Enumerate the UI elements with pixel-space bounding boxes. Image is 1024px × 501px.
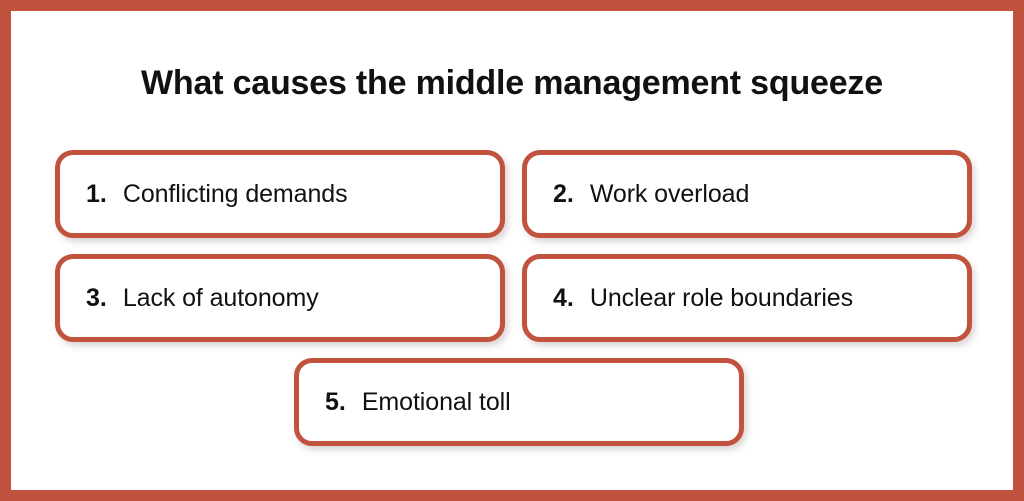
card-label-4: Unclear role boundaries [590, 284, 853, 313]
card-label-1: Conflicting demands [123, 180, 348, 209]
slide-canvas: What causes the middle management squeez… [11, 11, 1013, 490]
card-number-5: 5. [325, 388, 346, 417]
card-item-3[interactable]: 3. Lack of autonomy [55, 254, 505, 342]
cards-container: 1. Conflicting demands 2. Work overload … [55, 150, 983, 462]
card-label-3: Lack of autonomy [123, 284, 319, 313]
card-row-2: 3. Lack of autonomy 4. Unclear role boun… [55, 254, 983, 342]
card-number-3: 3. [86, 284, 107, 313]
card-number-4: 4. [553, 284, 574, 313]
card-label-5: Emotional toll [362, 388, 511, 417]
page-title: What causes the middle management squeez… [11, 63, 1013, 104]
card-item-5[interactable]: 5. Emotional toll [294, 358, 744, 446]
card-number-1: 1. [86, 180, 107, 209]
card-row-3: 5. Emotional toll [55, 358, 983, 446]
card-label-2: Work overload [590, 180, 749, 209]
slide-frame: What causes the middle management squeez… [0, 0, 1024, 501]
card-item-4[interactable]: 4. Unclear role boundaries [522, 254, 972, 342]
card-item-1[interactable]: 1. Conflicting demands [55, 150, 505, 238]
card-item-2[interactable]: 2. Work overload [522, 150, 972, 238]
card-row-1: 1. Conflicting demands 2. Work overload [55, 150, 983, 238]
card-number-2: 2. [553, 180, 574, 209]
